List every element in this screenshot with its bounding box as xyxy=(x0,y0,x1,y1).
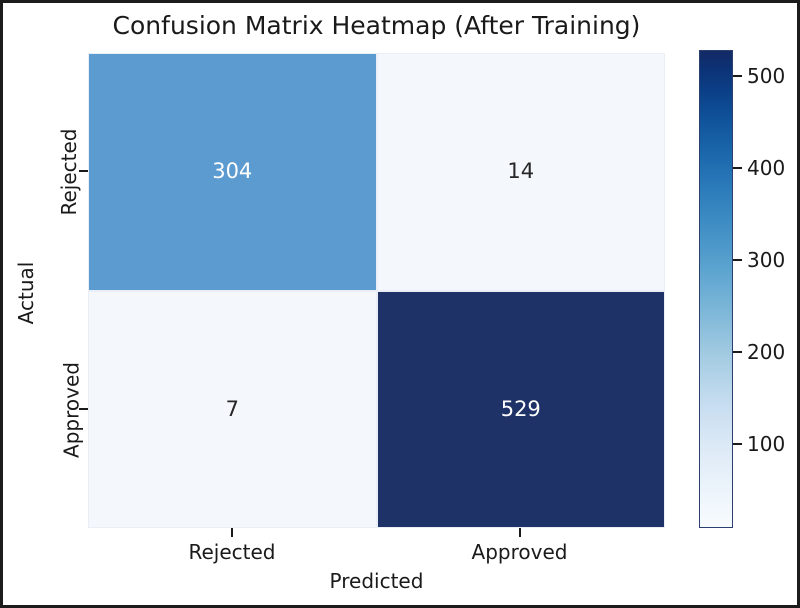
heatmap-cell-rejected-rejected: 304 xyxy=(88,53,377,291)
heatmap-cell-rejected-approved: 14 xyxy=(377,53,666,291)
colorbar-tick-label-300: 300 xyxy=(747,248,785,272)
colorbar xyxy=(699,50,733,528)
x-axis-label: Predicted xyxy=(88,569,665,593)
x-tick-mark-approved xyxy=(519,528,521,537)
y-axis-label: Actual xyxy=(14,248,38,338)
colorbar-tick-label-200: 200 xyxy=(747,340,785,364)
x-tick-label-rejected: Rejected xyxy=(167,540,297,564)
x-tick-label-approved: Approved xyxy=(447,540,592,564)
y-tick-label-rejected: Rejected xyxy=(57,107,81,237)
chart-title: Confusion Matrix Heatmap (After Training… xyxy=(88,11,665,40)
cell-value: 304 xyxy=(212,161,252,182)
colorbar-tick-mark-400 xyxy=(733,167,742,169)
colorbar-gradient xyxy=(699,50,733,528)
colorbar-tick-label-500: 500 xyxy=(747,64,785,88)
cell-value: 529 xyxy=(501,399,541,420)
heatmap-cell-approved-approved: 529 xyxy=(377,291,666,529)
confusion-matrix-figure: Confusion Matrix Heatmap (After Training… xyxy=(0,0,800,608)
colorbar-tick-mark-200 xyxy=(733,351,742,353)
x-tick-mark-rejected xyxy=(231,528,233,537)
cell-value: 7 xyxy=(226,399,239,420)
colorbar-tick-mark-300 xyxy=(733,259,742,261)
colorbar-tick-mark-500 xyxy=(733,75,742,77)
colorbar-tick-label-100: 100 xyxy=(747,432,785,456)
cell-value: 14 xyxy=(507,161,534,182)
colorbar-tick-mark-100 xyxy=(733,443,742,445)
colorbar-tick-label-400: 400 xyxy=(747,156,785,180)
heatmap-cell-approved-rejected: 7 xyxy=(88,291,377,529)
y-tick-label-approved: Approved xyxy=(60,338,84,483)
heatmap-plot-area: 304 14 7 529 xyxy=(88,53,665,528)
